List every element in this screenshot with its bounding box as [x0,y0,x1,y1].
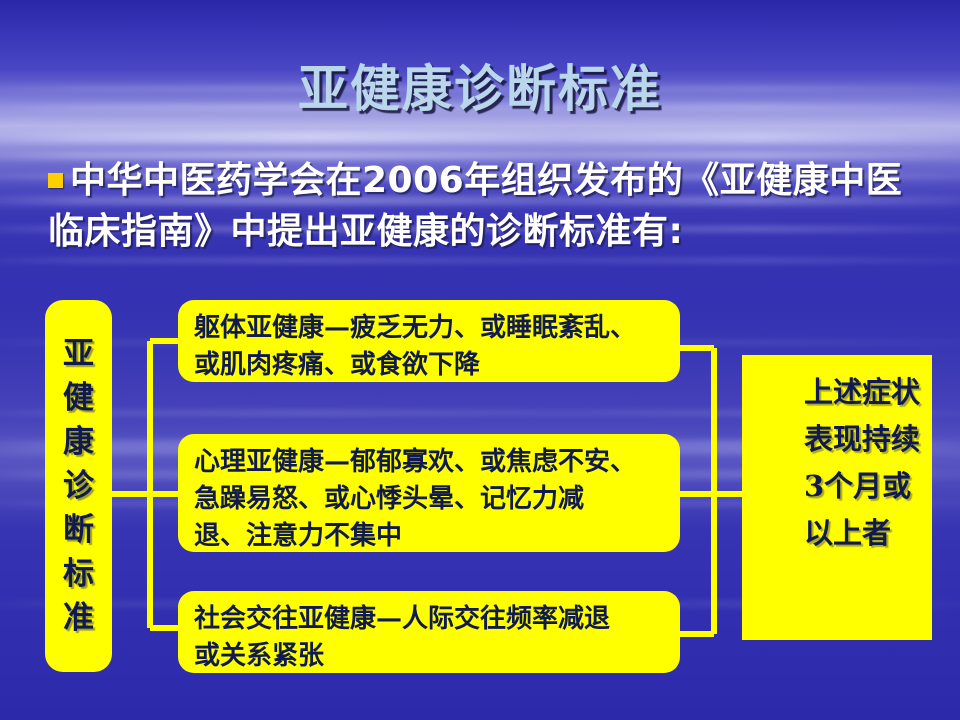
criterion-box-psychological[interactable]: 心理亚健康—郁郁寡欢、或焦虑不安、 急躁易怒、或心悸头晕、记忆力减 退、注意力不… [178,434,680,552]
body-paragraph: 中华中医药学会在2006年组织发布的《亚健康中医临床指南》中提出亚健康的诊断标准… [48,155,928,257]
slide-canvas: 亚健康诊断标准 中华中医药学会在2006年组织发布的《亚健康中医临床指南》中提出… [0,0,960,720]
criterion-line: 躯体亚健康—疲乏无力、或睡眠紊乱、 [194,310,666,347]
criterion-line: 心理亚健康—郁郁寡欢、或焦虑不安、 [194,444,666,481]
criterion-line: 社会交往亚健康—人际交往频率减退 [194,601,666,638]
criterion-box-physical[interactable]: 躯体亚健康—疲乏无力、或睡眠紊乱、 或肌肉疼痛、或食欲下降 [178,300,680,382]
slide-title: 亚健康诊断标准 [0,62,960,117]
square-bullet-icon [48,173,63,188]
left-category-box[interactable]: 亚健康诊断标准 [45,300,112,672]
criterion-line: 退、注意力不集中 [194,518,666,555]
conclusion-text: 上述症状表现持续3个月或以上者 [756,369,922,557]
left-category-label: 亚健康诊断标准 [62,332,96,640]
criterion-line: 急躁易怒、或心悸头晕、记忆力减 [194,481,666,518]
criterion-box-social[interactable]: 社会交往亚健康—人际交往频率减退 或关系紧张 [178,591,680,673]
criterion-line: 或肌肉疼痛、或食欲下降 [194,347,666,384]
conclusion-box[interactable]: 上述症状表现持续3个月或以上者 [742,355,932,640]
body-paragraph-text: 中华中医药学会在2006年组织发布的《亚健康中医临床指南》中提出亚健康的诊断标准… [48,160,902,252]
criterion-line: 或关系紧张 [194,638,666,675]
